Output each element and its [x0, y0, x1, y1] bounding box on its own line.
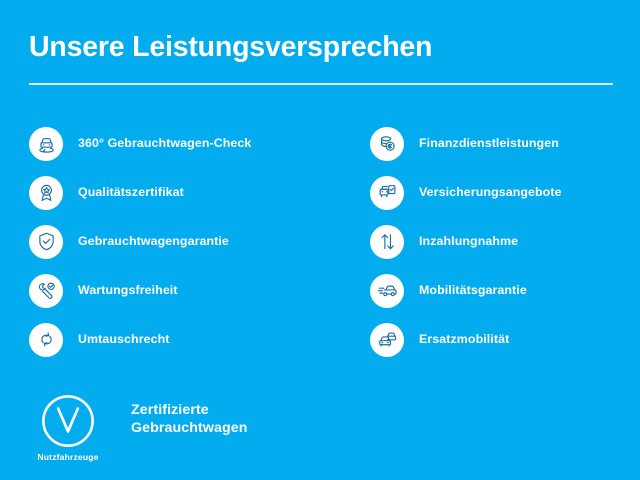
- footer-headline: Zertifizierte Gebrauchtwagen: [131, 402, 248, 437]
- feature-label: 360° Gebrauchtwagen-Check: [78, 136, 251, 151]
- page-title: Unsere Leistungsversprechen: [29, 30, 613, 64]
- feature-label: Wartungsfreiheit: [78, 283, 178, 298]
- car-document-check-icon: [370, 176, 404, 210]
- feature-label: Versicherungsangebote: [419, 185, 562, 200]
- header: Unsere Leistungsversprechen: [29, 30, 613, 85]
- feature-label: Mobilitätsgarantie: [419, 283, 527, 298]
- footer: Nutzfahrzeuge Zertifizierte Gebrauchtwag…: [29, 393, 248, 462]
- award-rosette-icon: [29, 176, 63, 210]
- feature-item[interactable]: Inzahlungnahme: [370, 217, 640, 266]
- feature-item[interactable]: Qualitätszertifikat: [29, 168, 340, 217]
- title-divider: [29, 83, 613, 85]
- shield-check-icon: [29, 225, 63, 259]
- feature-label: Umtauschrecht: [78, 332, 170, 347]
- two-cars-icon: [370, 323, 404, 357]
- volkswagen-roundel-logo: Nutzfahrzeuge: [29, 393, 107, 462]
- promo-banner: Unsere Leistungsversprechen 360° Gebrauc…: [0, 0, 640, 480]
- coins-euro-icon: [370, 127, 404, 161]
- brand-subline: Nutzfahrzeuge: [37, 452, 98, 462]
- car-motion-icon: [370, 274, 404, 308]
- feature-label: Qualitätszertifikat: [78, 185, 184, 200]
- footer-headline-line2: Gebrauchtwagen: [131, 420, 248, 438]
- feature-columns: 360° Gebrauchtwagen-Check Qualitätszerti…: [0, 119, 640, 364]
- wrench-check-icon: [29, 274, 63, 308]
- feature-item[interactable]: 360° Gebrauchtwagen-Check: [29, 119, 340, 168]
- feature-item[interactable]: Umtauschrecht: [29, 315, 340, 364]
- arrows-up-down-icon: [370, 225, 404, 259]
- feature-column-right: Finanzdienstleistungen Versicherungsange…: [340, 119, 640, 364]
- feature-label: Gebrauchtwagengarantie: [78, 234, 229, 249]
- feature-item[interactable]: Mobilitätsgarantie: [370, 266, 640, 315]
- footer-headline-line1: Zertifizierte: [131, 402, 248, 420]
- feature-item[interactable]: Versicherungsangebote: [370, 168, 640, 217]
- feature-item[interactable]: Wartungsfreiheit: [29, 266, 340, 315]
- feature-label: Finanzdienstleistungen: [419, 136, 559, 151]
- feature-label: Inzahlungnahme: [419, 234, 518, 249]
- feature-item[interactable]: Gebrauchtwagengarantie: [29, 217, 340, 266]
- feature-label: Ersatzmobilität: [419, 332, 509, 347]
- car-360-check-icon: [29, 127, 63, 161]
- feature-item[interactable]: Ersatzmobilität: [370, 315, 640, 364]
- exchange-arrows-icon: [29, 323, 63, 357]
- feature-column-left: 360° Gebrauchtwagen-Check Qualitätszerti…: [0, 119, 340, 364]
- feature-item[interactable]: Finanzdienstleistungen: [370, 119, 640, 168]
